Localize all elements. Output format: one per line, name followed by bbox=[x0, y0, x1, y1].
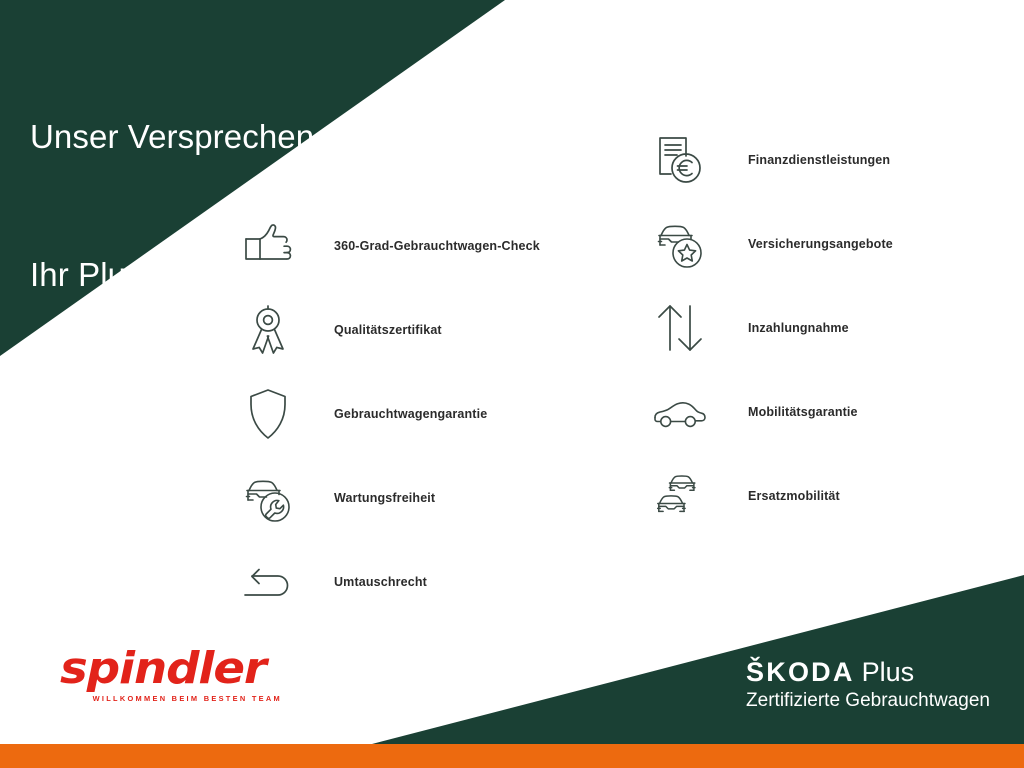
spindler-tagline: WILLKOMMEN BEIM BESTEN TEAM bbox=[60, 694, 282, 703]
car-star-icon bbox=[648, 212, 712, 276]
feature-item-360-check: 360-Grad-Gebrauchtwagen-Check bbox=[236, 204, 540, 288]
feature-label: Inzahlungnahme bbox=[748, 321, 849, 335]
feature-label: Wartungsfreiheit bbox=[334, 491, 435, 505]
feature-label: 360-Grad-Gebrauchtwagen-Check bbox=[334, 239, 540, 253]
award-rosette-icon bbox=[236, 298, 300, 362]
feature-label: Qualitätszertifikat bbox=[334, 323, 442, 337]
feature-label: Versicherungsangebote bbox=[748, 237, 893, 251]
promo-banner: Unser Versprechen. Ihr Plus. 360-Grad-Ge… bbox=[0, 0, 1024, 768]
spindler-logo: spindler WILLKOMMEN BEIM BESTEN TEAM bbox=[60, 645, 310, 703]
car-side-icon bbox=[648, 380, 712, 444]
orange-bottom-bar bbox=[0, 744, 1024, 768]
feature-item-warranty: Gebrauchtwagengarantie bbox=[236, 372, 540, 456]
shield-icon bbox=[236, 382, 300, 446]
skoda-plus-word: Plus bbox=[862, 657, 915, 687]
feature-item-maintenance-free: Wartungsfreiheit bbox=[236, 456, 540, 540]
feature-label: Finanzdienstleistungen bbox=[748, 153, 890, 167]
feature-item-replacement-mobility: Ersatzmobilität bbox=[648, 454, 893, 538]
car-wrench-icon bbox=[236, 466, 300, 530]
feature-list-right: Finanzdienstleistungen Versicherungsange… bbox=[648, 118, 893, 538]
skoda-plus-logo: ŠKODAPlus Zertifizierte Gebrauchtwagen bbox=[746, 657, 990, 713]
feature-item-insurance: Versicherungsangebote bbox=[648, 202, 893, 286]
return-arrow-icon bbox=[236, 550, 300, 614]
document-euro-icon bbox=[648, 128, 712, 192]
skoda-brand: ŠKODA bbox=[746, 657, 855, 687]
feature-label: Gebrauchtwagengarantie bbox=[334, 407, 487, 421]
two-cars-icon bbox=[648, 464, 712, 528]
thumbs-up-icon bbox=[236, 214, 300, 278]
headline-line-1: Unser Versprechen. bbox=[30, 114, 323, 160]
feature-label: Ersatzmobilität bbox=[748, 489, 840, 503]
feature-label: Umtauschrecht bbox=[334, 575, 427, 589]
feature-list-left: 360-Grad-Gebrauchtwagen-Check Qualitätsz… bbox=[236, 204, 540, 624]
feature-item-mobility-guarantee: Mobilitätsgarantie bbox=[648, 370, 893, 454]
up-down-arrows-icon bbox=[648, 296, 712, 360]
feature-label: Mobilitätsgarantie bbox=[748, 405, 858, 419]
skoda-brand-line: ŠKODAPlus bbox=[746, 657, 990, 688]
skoda-subtitle: Zertifizierte Gebrauchtwagen bbox=[746, 689, 990, 713]
feature-item-return-right: Umtauschrecht bbox=[236, 540, 540, 624]
feature-item-trade-in: Inzahlungnahme bbox=[648, 286, 893, 370]
spindler-wordmark: spindler bbox=[60, 645, 325, 693]
feature-item-quality-certificate: Qualitätszertifikat bbox=[236, 288, 540, 372]
feature-item-financial-services: Finanzdienstleistungen bbox=[648, 118, 893, 202]
